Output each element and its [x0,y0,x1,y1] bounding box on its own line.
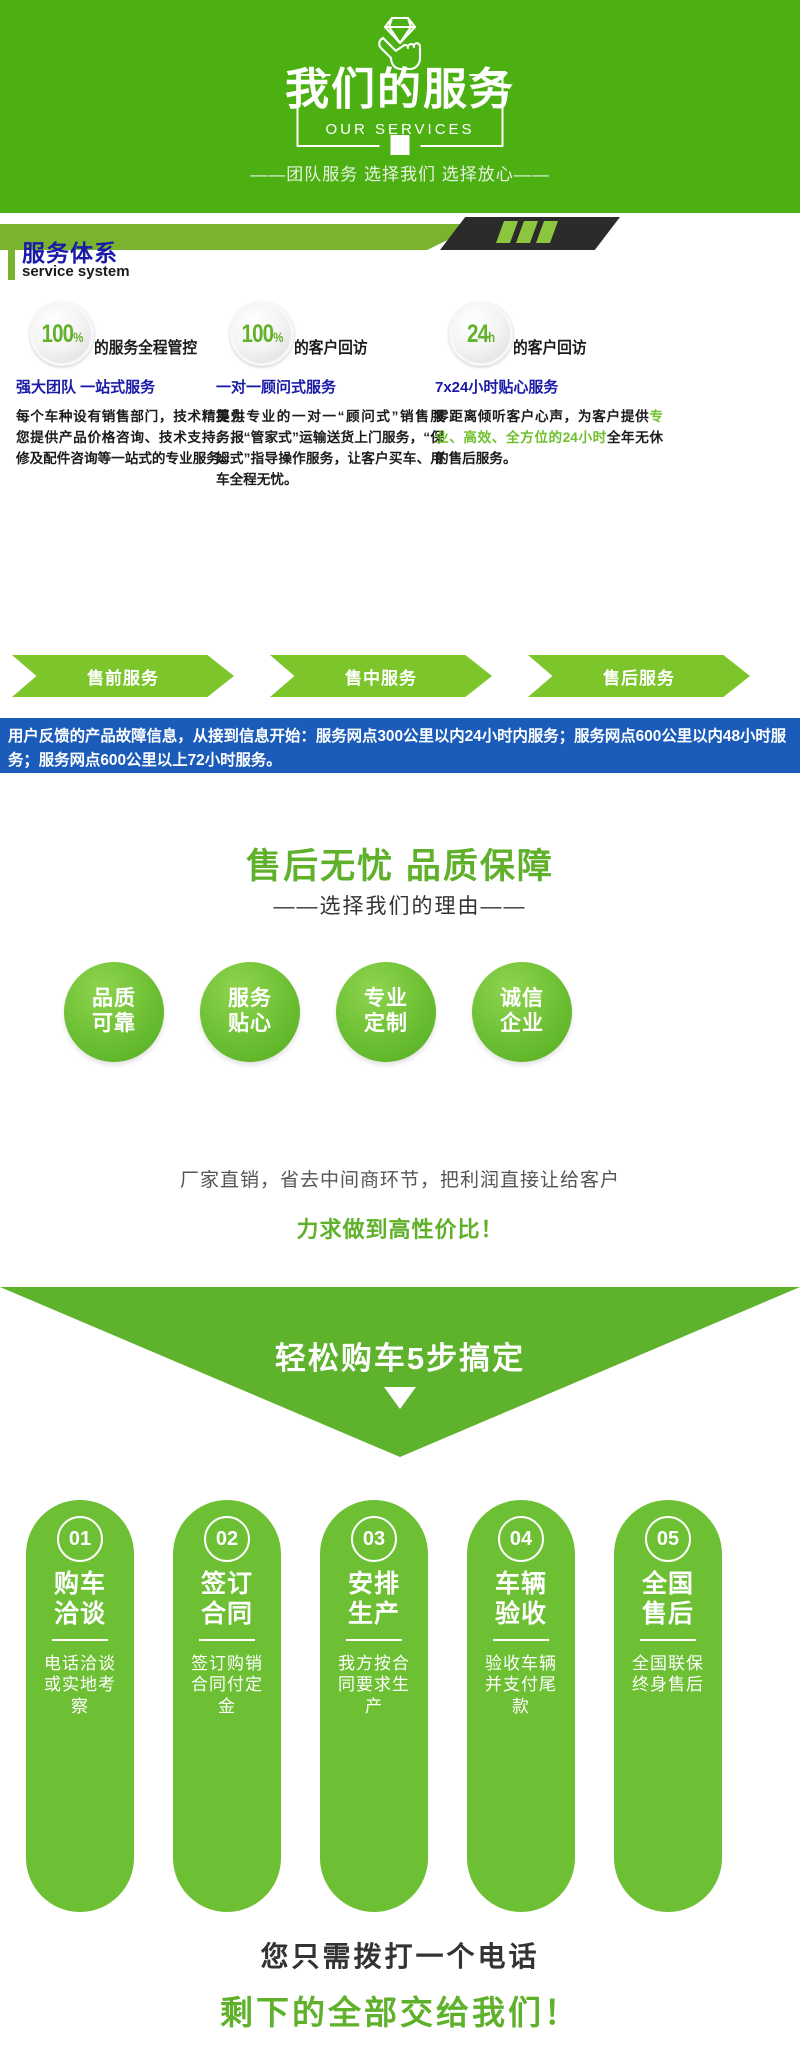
step-desc-1: 电话洽谈或实地考察 [44,1653,116,1717]
column-body-1: 每个车种设有销售部门，技术精英为您提供产品价格咨询、技术支持、报修及配件咨询等一… [16,406,244,469]
badge-number-2: 100% [241,320,282,349]
badge-caption-1: 的服务全程管控 [94,334,197,358]
reason-circle-3-line1: 专业 [364,987,408,1012]
response-time-banner: 用户反馈的产品故障信息，从接到信息开始：服务网点300公里以内24小时内服务；服… [0,718,800,773]
step-title-1: 购车洽谈 [48,1570,112,1629]
hero-banner: 我们的服务 OUR SERVICES ——团队服务 选择我们 选择放心—— [0,0,800,213]
down-caret-icon [384,1387,416,1409]
footer-line-1: 您只需拨打一个电话 [0,1935,800,1975]
page-subtitle: OUR SERVICES [325,121,474,138]
reason-circles: 品质 可靠 服务 贴心 专业 定制 诚信 企业 [0,962,800,1082]
badge-row-3: 24h 的客户回访 [435,302,673,374]
step-number-2: 02 [204,1516,250,1562]
service-columns: 100% 的服务全程管控 强大团队 一站式服务 每个车种设有销售部门，技术精英为… [0,302,800,532]
hero-frame-notch [391,135,410,155]
direct-sale-line-1: 厂家直销，省去中间商环节，把利润直接让给客户 [0,1165,800,1192]
service-column-2: 100% 的客户回访 一对一顾问式服务 提供专业的一对一“顾问式”销售服务，“管… [216,302,454,490]
reason-circle-4[interactable]: 诚信 企业 [472,962,572,1062]
step-desc-2: 签订购销合同付定金 [191,1653,263,1717]
reason-circle-3[interactable]: 专业 定制 [336,962,436,1062]
chevron-after-sale[interactable]: 售后服务 [528,655,750,697]
steps-banner-title: 轻松购车5步搞定 [0,1333,800,1378]
service-system-title-en: service system [22,263,130,280]
service-column-3: 24h 的客户回访 7x24小时贴心服务 零距离倾听客户心声，为客户提供专业、高… [435,302,673,469]
step-desc-5: 全国联保终身售后 [632,1653,704,1696]
chevron-pre-sale[interactable]: 售前服务 [12,655,234,697]
badge-number-1: 100% [41,320,82,349]
reason-circle-1-line1: 品质 [92,987,136,1012]
step-divider-3 [346,1639,402,1641]
badge-circle-1: 100% [30,302,94,366]
column-heading-2: 一对一顾问式服务 [216,376,454,397]
step-divider-4 [493,1639,549,1641]
column-heading-3: 7x24小时贴心服务 [435,376,673,397]
body-highlight-3b: 24小时 [563,430,607,445]
reason-circle-3-line2: 定制 [364,1012,408,1037]
reason-circle-2-line2: 贴心 [228,1012,272,1037]
reason-circle-4-line1: 诚信 [500,987,544,1012]
step-capsule-1[interactable]: 01 购车洽谈 电话洽谈或实地考察 [26,1500,134,1912]
step-title-4: 车辆验收 [489,1570,553,1629]
steps-banner: 轻松购车5步搞定 [0,1287,800,1457]
step-number-1: 01 [57,1516,103,1562]
step-capsule-5[interactable]: 05 全国售后 全国联保终身售后 [614,1500,722,1912]
chevron-during-sale[interactable]: 售中服务 [270,655,492,697]
badge-caption-2: 的客户回访 [294,334,368,358]
reason-circle-2-line1: 服务 [228,987,272,1012]
badge-circle-2: 100% [230,302,294,366]
reason-circle-1-line2: 可靠 [92,1012,136,1037]
step-divider-5 [640,1639,696,1641]
direct-sale-line-2: 力求做到高性价比！ [0,1212,800,1244]
hero-tagline: ——团队服务 选择我们 选择放心—— [250,160,549,185]
page-title: 我们的服务 [285,68,515,112]
step-desc-4: 验收车辆并支付尾款 [485,1653,557,1717]
step-desc-3: 我方按合同要求生产 [338,1653,410,1717]
step-capsule-3[interactable]: 03 安排生产 我方按合同要求生产 [320,1500,428,1912]
body-pre-3: 零距离倾听客户心声，为客户提供 [435,409,649,424]
step-capsule-2[interactable]: 02 签订合同 签订购销合同付定金 [173,1500,281,1912]
badge-row-2: 100% 的客户回访 [216,302,454,374]
step-divider-2 [199,1639,255,1641]
reasons-subtitle: ——选择我们的理由—— [0,890,800,920]
step-number-4: 04 [498,1516,544,1562]
badge-caption-3: 的客户回访 [513,334,587,358]
heading-accent-bar [8,236,15,280]
badge-number-3: 24h [467,320,494,349]
purchase-steps: 01 购车洽谈 电话洽谈或实地考察 02 签订合同 签订购销合同付定金 03 安… [0,1500,800,1912]
service-stage-chevrons: 售前服务 售中服务 售后服务 [0,655,800,699]
badge-circle-3: 24h [449,302,513,366]
column-body-3: 零距离倾听客户心声，为客户提供专业、高效、全方位的24小时全年无休的售后服务。 [435,406,663,469]
service-system-heading: 服务体系 service system [8,234,408,284]
column-body-2: 提供专业的一对一“顾问式”销售服务，“管家式”运输送货上门服务，“保姆式”指导操… [216,406,444,490]
reasons-title: 售后无忧 品质保障 [0,838,800,889]
step-divider-1 [52,1639,108,1641]
reason-circle-4-line2: 企业 [500,1012,544,1037]
footer-line-2: 剩下的全部交给我们！ [0,1986,800,2034]
step-title-5: 全国售后 [636,1570,700,1629]
step-number-5: 05 [645,1516,691,1562]
step-number-3: 03 [351,1516,397,1562]
reason-circle-1[interactable]: 品质 可靠 [64,962,164,1062]
reason-circle-2[interactable]: 服务 贴心 [200,962,300,1062]
step-title-2: 签订合同 [195,1570,259,1629]
step-capsule-4[interactable]: 04 车辆验收 验收车辆并支付尾款 [467,1500,575,1912]
step-title-3: 安排生产 [342,1570,406,1629]
